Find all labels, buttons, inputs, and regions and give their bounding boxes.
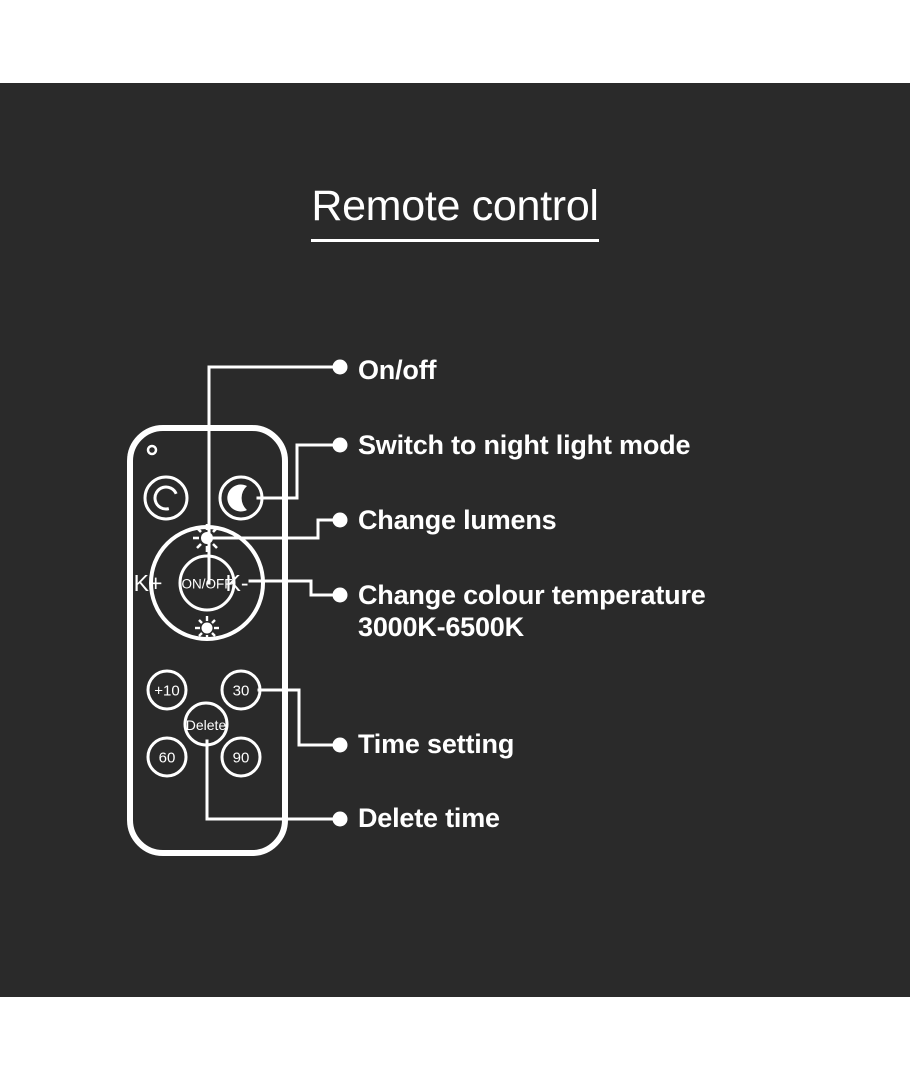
timer-delete-button[interactable]: Delete xyxy=(185,703,227,745)
timer-60-label: 60 xyxy=(159,750,176,767)
night-light-button[interactable] xyxy=(220,477,262,519)
timer-30-label: 30 xyxy=(233,683,250,700)
connector-onoff xyxy=(209,367,336,583)
moon-icon xyxy=(227,484,247,511)
callout-label-lumens: Change lumens xyxy=(358,505,556,537)
timer-90-label: 90 xyxy=(233,750,250,767)
timer-delete-label: Delete xyxy=(186,717,227,733)
screenshot-root: Remote control xyxy=(0,0,910,1080)
connector-lumens xyxy=(214,520,336,538)
callout-label-onoff: On/off xyxy=(358,355,436,387)
callout-label-colour-temperature: Change colour temperature 3000K-6500K xyxy=(358,580,706,644)
bullet-delete xyxy=(333,812,348,827)
bullet-lumens xyxy=(333,513,348,528)
callout-label-delete-time: Delete time xyxy=(358,803,500,835)
sun-bright-icon[interactable] xyxy=(193,524,221,552)
remote-diagram: ON/OFF K+ K- xyxy=(0,83,910,997)
callout-label-night-light: Switch to night light mode xyxy=(358,430,690,462)
bullet-night xyxy=(333,438,348,453)
bullet-temp xyxy=(333,588,348,603)
bullet-onoff xyxy=(333,360,348,375)
dial-kminus-label[interactable]: K- xyxy=(226,570,249,596)
power-standby-button[interactable] xyxy=(145,477,187,519)
timer-30-button[interactable]: 30 xyxy=(222,671,260,709)
connector-night-light xyxy=(258,445,336,498)
bullet-time xyxy=(333,738,348,753)
control-dial[interactable]: ON/OFF K+ K- xyxy=(134,524,263,640)
timer-90-button[interactable]: 90 xyxy=(222,738,260,776)
dial-kplus-label[interactable]: K+ xyxy=(134,570,163,596)
timer-plus10-button[interactable]: +10 xyxy=(148,671,186,709)
power-icon xyxy=(153,485,180,512)
connector-delete-time xyxy=(207,741,336,819)
timer-plus10-label: +10 xyxy=(154,683,179,700)
callout-label-time-setting: Time setting xyxy=(358,729,514,761)
timer-60-button[interactable]: 60 xyxy=(148,738,186,776)
ir-led-indicator xyxy=(148,446,156,454)
connector-time-setting xyxy=(259,690,336,745)
